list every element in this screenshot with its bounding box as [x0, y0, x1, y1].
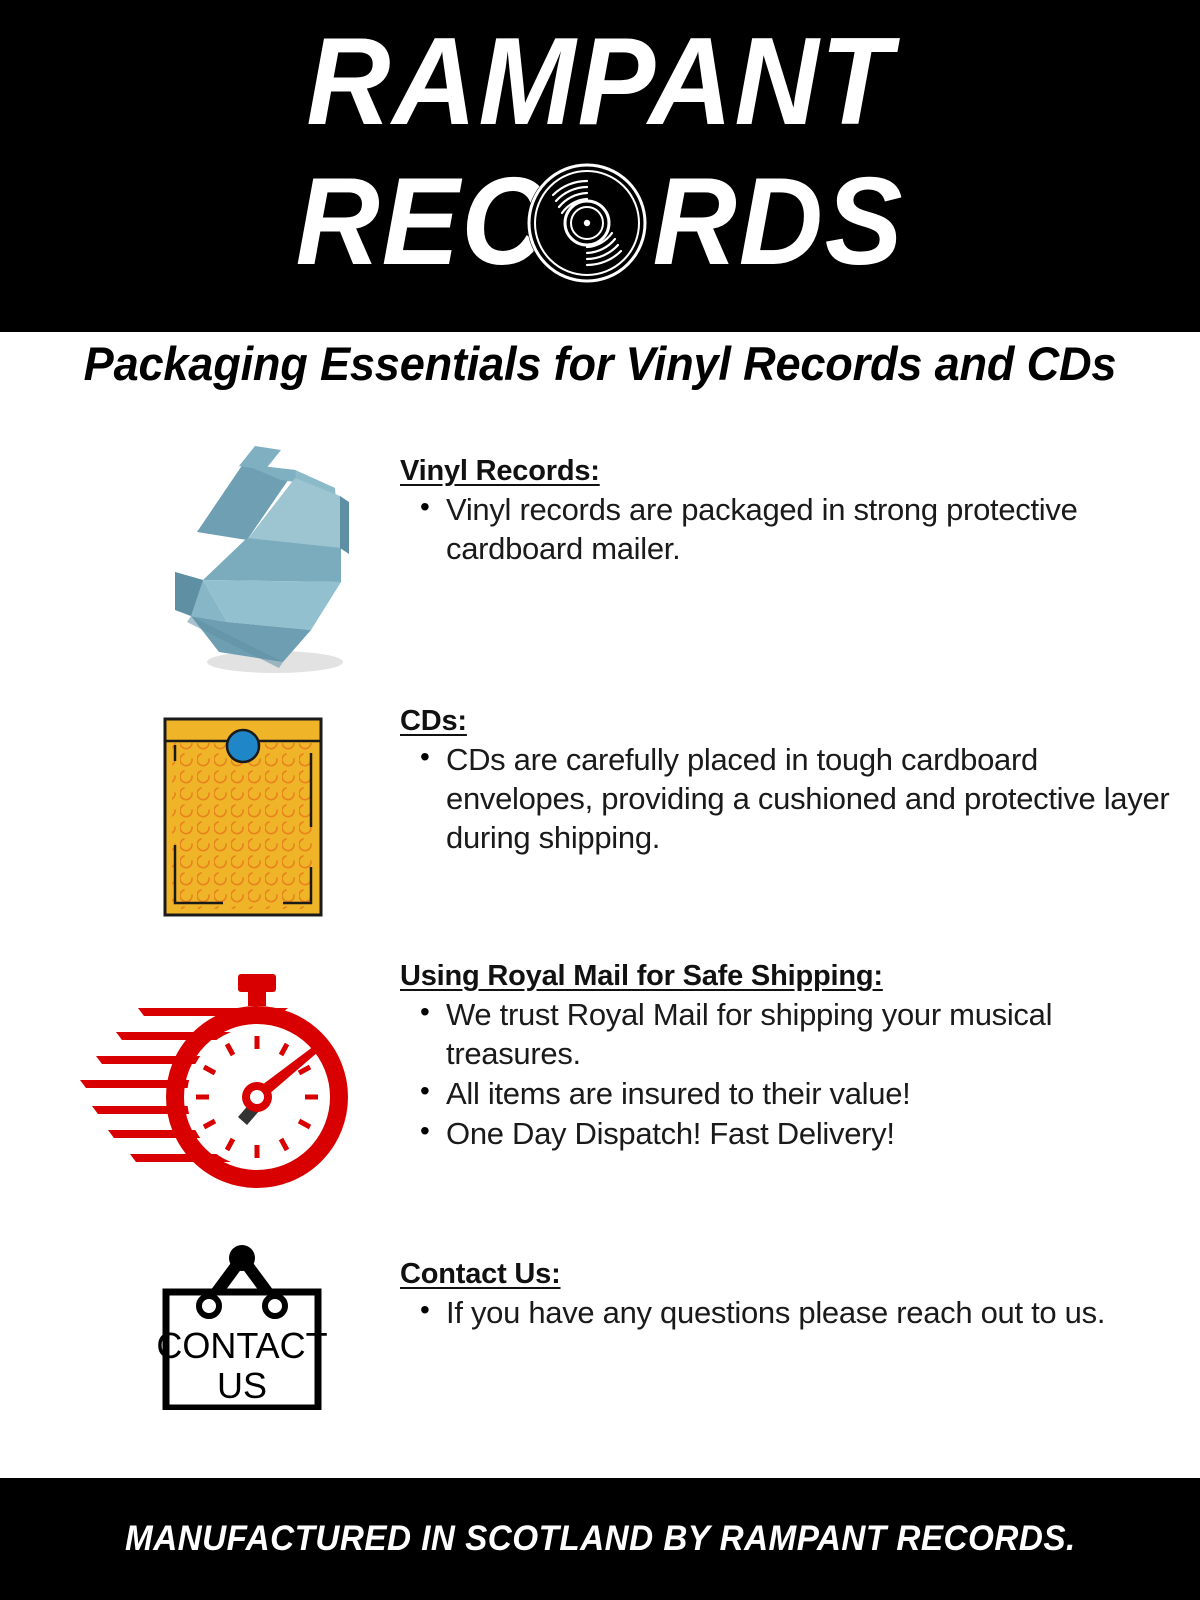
brand-logo-rec: REC	[296, 153, 548, 291]
padded-bubble-envelope-icon	[163, 717, 323, 917]
footer-text: MANUFACTURED IN SCOTLAND BY RAMPANT RECO…	[125, 1519, 1076, 1559]
brand-logo-line-1: RAMPANT	[36, 20, 1164, 144]
text-column-cds: CDs: CDs are carefully placed in tough c…	[400, 705, 1200, 858]
vinyl-record-icon	[526, 162, 648, 284]
text-column-contact: Contact Us: If you have any questions pl…	[400, 1258, 1200, 1333]
icon-column-contact: CONTACT US	[0, 1258, 400, 1428]
bullet-list-vinyl: Vinyl records are packaged in strong pro…	[400, 490, 1170, 568]
bullet-item: CDs are carefully placed in tough cardbo…	[446, 740, 1170, 857]
text-column-royal-mail: Using Royal Mail for Safe Shipping: We t…	[400, 960, 1200, 1154]
brand-logo-rds: RDS	[653, 153, 905, 291]
bullet-item: We trust Royal Mail for shipping your mu…	[446, 995, 1170, 1073]
cardboard-mailer-box-icon	[135, 430, 385, 680]
sign-text-line-2: US	[217, 1365, 267, 1406]
section-vinyl-records: Vinyl Records: Vinyl records are package…	[0, 455, 1200, 685]
page-subtitle: Packaging Essentials for Vinyl Records a…	[24, 336, 1176, 391]
bullet-item: All items are insured to their value!	[446, 1074, 1170, 1113]
sign-text-line-1: CONTACT	[156, 1325, 327, 1366]
header-banner: RAMPANT RECRDS	[0, 0, 1200, 332]
fast-stopwatch-icon	[78, 960, 358, 1195]
contact-us-hanging-sign-icon: CONTACT US	[152, 1230, 332, 1410]
footer-banner: MANUFACTURED IN SCOTLAND BY RAMPANT RECO…	[0, 1478, 1200, 1600]
bullet-list-royal-mail: We trust Royal Mail for shipping your mu…	[400, 995, 1170, 1153]
bullet-list-cds: CDs are carefully placed in tough cardbo…	[400, 740, 1170, 857]
icon-column-vinyl	[0, 455, 400, 685]
icon-column-cds	[0, 705, 400, 935]
bullet-item: One Day Dispatch! Fast Delivery!	[446, 1114, 1170, 1153]
section-cds: CDs: CDs are carefully placed in tough c…	[0, 705, 1200, 935]
section-contact-us: CONTACT US Contact Us: If you have any q…	[0, 1258, 1200, 1428]
section-heading-contact: Contact Us:	[400, 1258, 1170, 1291]
icon-column-royal-mail	[0, 960, 400, 1200]
section-heading-royal-mail: Using Royal Mail for Safe Shipping:	[400, 960, 1170, 993]
bullet-item: Vinyl records are packaged in strong pro…	[446, 490, 1170, 568]
section-heading-cds: CDs:	[400, 705, 1170, 738]
section-heading-vinyl: Vinyl Records:	[400, 455, 1170, 488]
bullet-item: If you have any questions please reach o…	[446, 1293, 1170, 1332]
text-column-vinyl: Vinyl Records: Vinyl records are package…	[400, 455, 1200, 569]
bullet-list-contact: If you have any questions please reach o…	[400, 1293, 1170, 1332]
section-royal-mail: Using Royal Mail for Safe Shipping: We t…	[0, 960, 1200, 1200]
